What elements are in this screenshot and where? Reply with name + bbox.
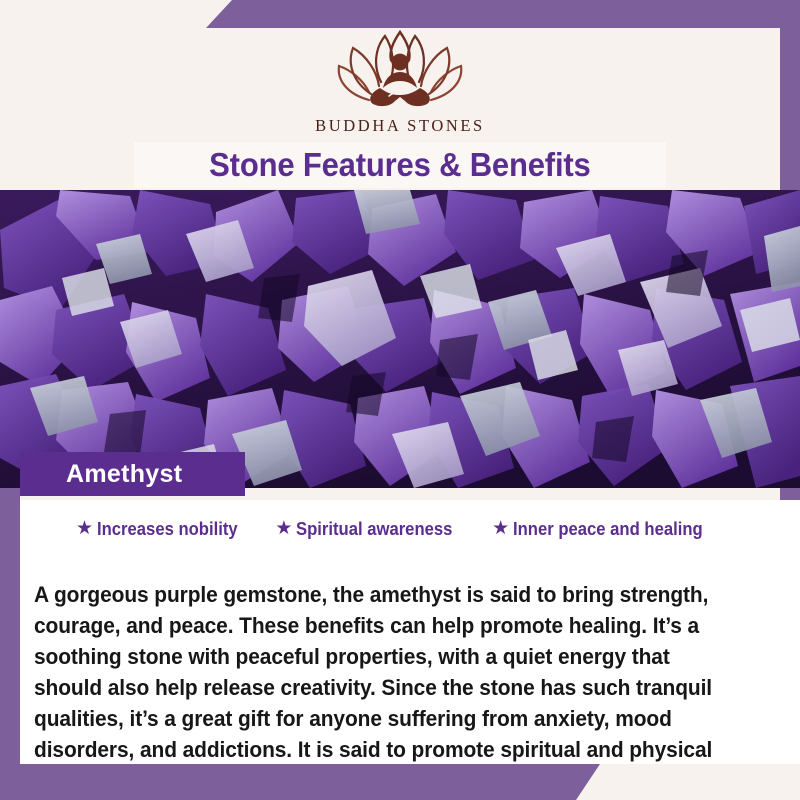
lotus-meditation-icon: [325, 22, 475, 110]
benefit-item-3: ★ Inner peace and healing: [492, 518, 724, 540]
page-title: Stone Features & Benefits: [209, 146, 590, 184]
product-info-poster: BUDDHA STONES Stone Features & Benefits: [0, 0, 800, 800]
benefit-item-2: ★ Spiritual awareness: [275, 518, 470, 540]
stone-name: Amethyst: [66, 460, 182, 489]
frame-band-bottom: [0, 764, 600, 800]
star-icon: ★: [275, 519, 292, 538]
benefit-label-1: Increases nobility: [97, 518, 238, 540]
page-title-plate: Stone Features & Benefits: [134, 142, 666, 188]
amethyst-crystal-photo: [0, 190, 800, 488]
benefits-list: ★ Increases nobility ★ Spiritual awarene…: [20, 518, 780, 540]
benefit-item-1: ★ Increases nobility: [76, 518, 253, 540]
stone-name-banner: Amethyst: [20, 452, 245, 496]
frame-band-left: [0, 488, 20, 800]
benefit-label-2: Spiritual awareness: [296, 518, 452, 540]
stone-description: A gorgeous purple gemstone, the amethyst…: [34, 579, 726, 796]
star-icon: ★: [76, 519, 93, 538]
brand-logo-block: BUDDHA STONES: [0, 22, 800, 136]
star-icon: ★: [492, 519, 509, 538]
brand-wordmark: BUDDHA STONES: [0, 116, 800, 136]
benefit-label-3: Inner peace and healing: [513, 518, 703, 540]
